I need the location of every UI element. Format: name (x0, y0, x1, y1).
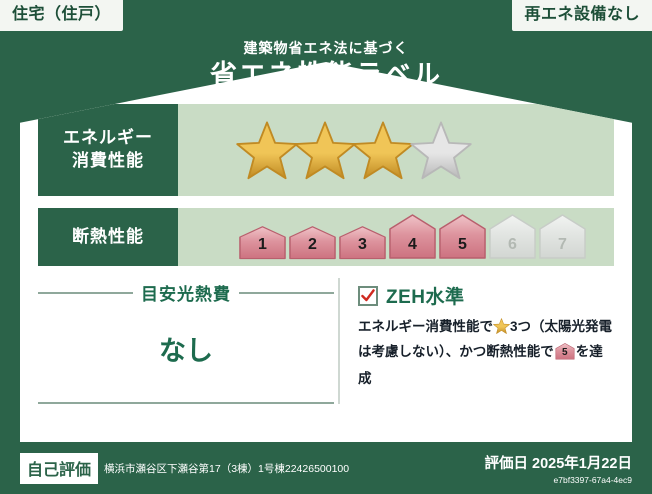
insulation-level-on: 3 (338, 226, 387, 260)
label-title-block: 建築物省エネ法に基づく 省エネ性能ラベル (0, 40, 652, 91)
footer-right: 評価日 2025年1月22日 e7bf3397-67a4-4ec9 (485, 452, 632, 485)
energy-performance-body (178, 104, 614, 196)
evaluation-id: e7bf3397-67a4-4ec9 (485, 475, 632, 485)
utility-cost-value: なし (38, 329, 334, 368)
star-filled-icon (294, 120, 356, 180)
energy-label-line2: 消費性能 (72, 150, 144, 173)
insulation-level-number: 5 (438, 236, 487, 254)
heading-rule-left (38, 292, 133, 294)
insulation-level-number: 2 (288, 236, 337, 254)
evaluation-type-badge: 自己評価 (20, 453, 98, 484)
zeh-desc-star-count: 3つ（太陽光発電 (510, 319, 612, 334)
check-icon (360, 288, 376, 304)
zeh-desc-part1: エネルギー消費性能で (358, 319, 493, 334)
star-filled-icon (236, 120, 298, 180)
insulation-label-text: 断熱性能 (72, 226, 144, 249)
insulation-level-number: 6 (488, 236, 537, 254)
utility-cost-section: 目安光熱費 なし (38, 278, 338, 404)
inline-house-icon: 5 (555, 343, 575, 367)
title-subtitle: 建築物省エネ法に基づく (0, 40, 652, 57)
renewable-equipment-tag: 再エネ設備なし (512, 0, 652, 31)
zeh-heading: ZEH水準 (358, 282, 614, 309)
insulation-performance-row: 断熱性能 1234567 (38, 208, 614, 266)
zeh-description: エネルギー消費性能で3つ（太陽光発電は考慮しない）、かつ断熱性能で5を達成 (358, 316, 614, 390)
zeh-title: ZEH水準 (386, 282, 465, 309)
insulation-level-off: 7 (538, 214, 587, 260)
utility-cost-heading-text: 目安光熱費 (141, 280, 231, 305)
insulation-level-number: 7 (538, 236, 587, 254)
insulation-level-number: 4 (388, 236, 437, 254)
evaluation-date: 評価日 2025年1月22日 (485, 456, 632, 472)
insulation-level-on: 5 (438, 214, 487, 260)
utility-cost-heading: 目安光熱費 (38, 280, 334, 305)
energy-performance-label: エネルギー 消費性能 (38, 104, 178, 196)
insulation-level-on: 2 (288, 226, 337, 260)
star-filled-icon (352, 120, 414, 180)
insulation-level-on: 4 (388, 214, 437, 260)
zeh-desc-part2: は考慮しない）、かつ断熱性能で (358, 344, 554, 359)
zeh-section: ZEH水準 エネルギー消費性能で3つ（太陽光発電は考慮しない）、かつ断熱性能で5… (338, 278, 614, 404)
page-title: 省エネ性能ラベル (0, 60, 652, 91)
insulation-scale: 1234567 (238, 214, 588, 260)
star-empty-icon (410, 120, 472, 180)
footer: 自己評価 横浜市瀬谷区下瀬谷第17（3棟）1号棟22426500100 評価日 … (0, 442, 652, 494)
property-address: 横浜市瀬谷区下瀬谷第17（3棟）1号棟22426500100 (104, 461, 349, 476)
insulation-level-number: 3 (338, 236, 387, 254)
star-rating (236, 120, 468, 180)
label-panel: エネルギー 消費性能 断熱性能 1234567 目安光熱費 (20, 62, 632, 442)
energy-performance-row: エネルギー 消費性能 (38, 104, 614, 196)
zeh-checkbox[interactable] (358, 286, 378, 306)
insulation-performance-body: 1234567 (178, 208, 614, 266)
energy-label-line1: エネルギー (63, 127, 153, 150)
insulation-level-number: 1 (238, 236, 287, 254)
details-columns: 目安光熱費 なし ZEH水準 エネルギー消費性能で3つ（太陽光発電は考慮しな (38, 278, 614, 404)
insulation-level-on: 1 (238, 226, 287, 260)
inline-star-icon (493, 318, 510, 341)
utility-cost-bottom-rule (38, 402, 334, 404)
heading-rule-right (239, 292, 334, 294)
insulation-level-off: 6 (488, 214, 537, 260)
insulation-performance-label: 断熱性能 (38, 208, 178, 266)
housing-type-tag: 住宅（住戸） (0, 0, 123, 31)
